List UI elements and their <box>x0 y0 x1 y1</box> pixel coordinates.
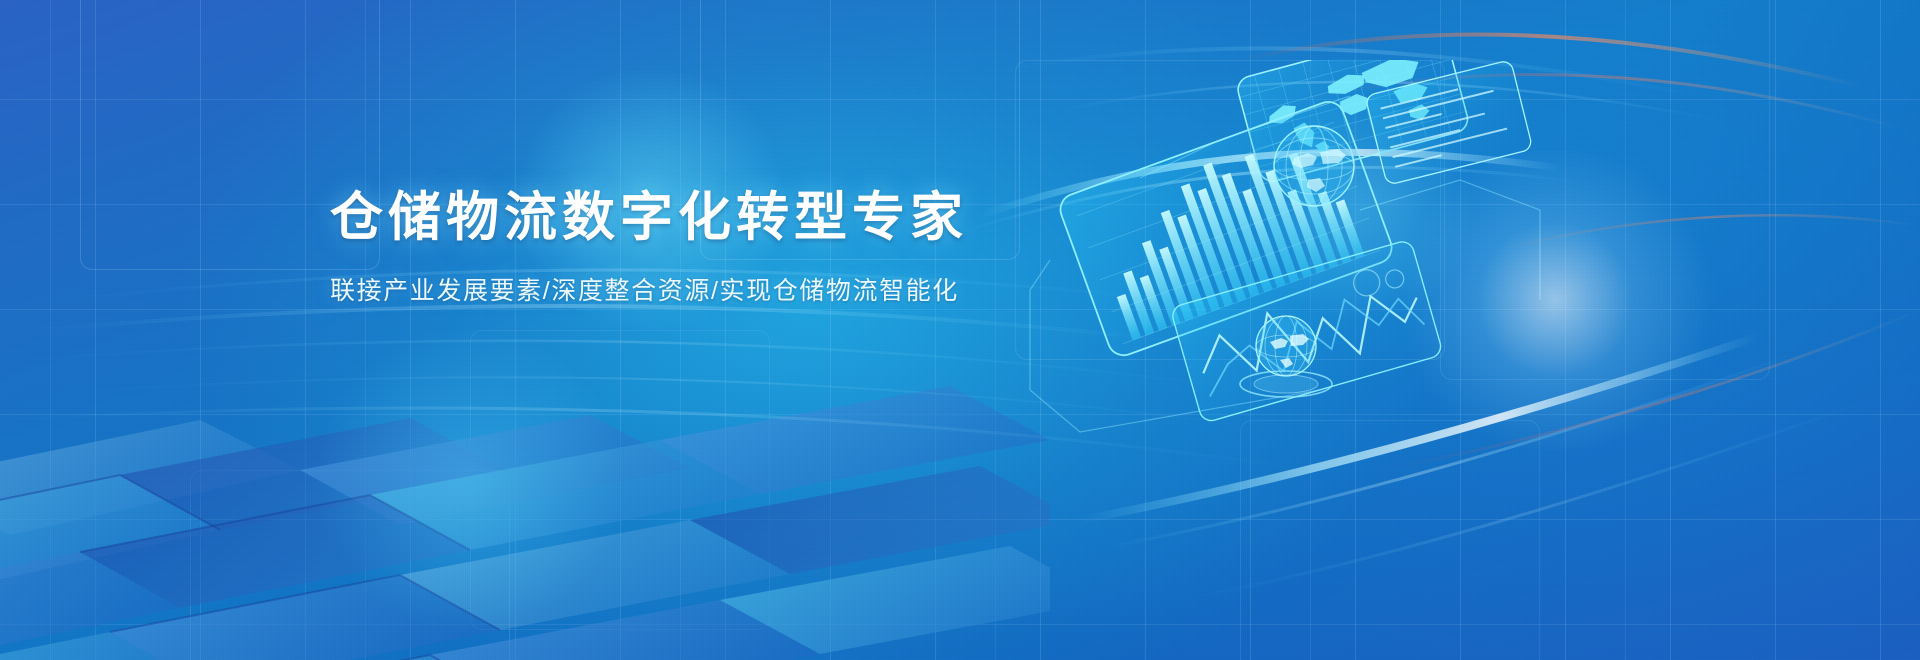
hero-copy: 仓储物流数字化转型专家 联接产业发展要素/深度整合资源/实现仓储物流智能化 <box>330 188 1090 307</box>
hero-banner: 仓储物流数字化转型专家 联接产业发展要素/深度整合资源/实现仓储物流智能化 <box>0 0 1920 660</box>
noise-texture <box>0 0 1920 660</box>
page-subtitle: 联接产业发展要素/深度整合资源/实现仓储物流智能化 <box>330 271 1090 307</box>
page-title: 仓储物流数字化转型专家 <box>330 188 1090 247</box>
